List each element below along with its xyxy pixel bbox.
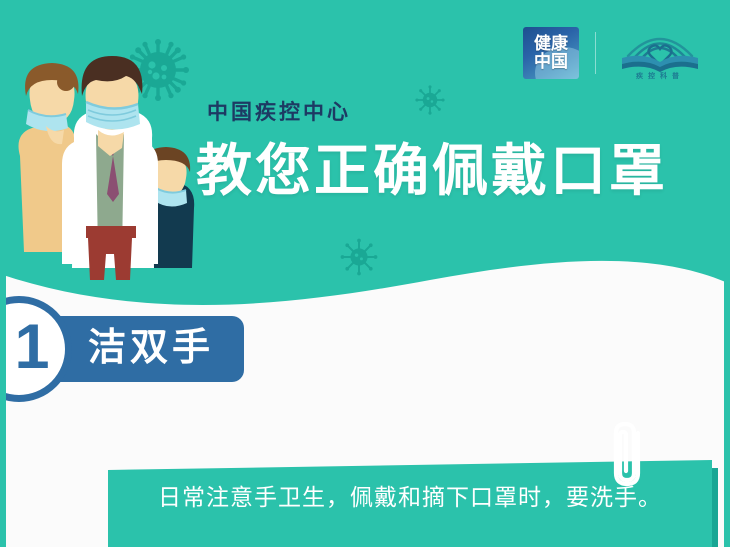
paperclip-icon: [608, 418, 642, 492]
masked-family-illustration: [0, 38, 205, 288]
organization-name: 中国疾控中心: [207, 96, 351, 126]
left-edge-strip: [0, 0, 6, 547]
step-number-badge: 1: [0, 296, 72, 402]
right-edge-strip: [724, 0, 730, 547]
logo-row: 健康 中国 疾控科普: [523, 26, 708, 80]
healthy-china-logo: 健康 中国: [523, 27, 579, 79]
cdc-science-logo-caption: 疾控科普: [612, 71, 708, 81]
coronavirus-icon: [415, 85, 445, 115]
coronavirus-icon: [340, 238, 378, 276]
logo-divider: [595, 32, 596, 74]
step-number: 1: [14, 316, 49, 379]
healthy-china-logo-line1: 健康: [534, 35, 568, 53]
mask-guide-poster: 健康 中国 疾控科普 中国疾控中心 教您正确佩戴口罩: [0, 0, 730, 547]
healthy-china-logo-line2: 中国: [534, 53, 568, 71]
page-title: 教您正确佩戴口罩: [196, 140, 668, 202]
step-title-pill: 洁双手: [46, 316, 244, 382]
step-1-row: 1 洁双手: [0, 296, 244, 402]
step-title: 洁双手: [88, 327, 214, 369]
cdc-science-logo: 疾控科普: [612, 26, 708, 80]
